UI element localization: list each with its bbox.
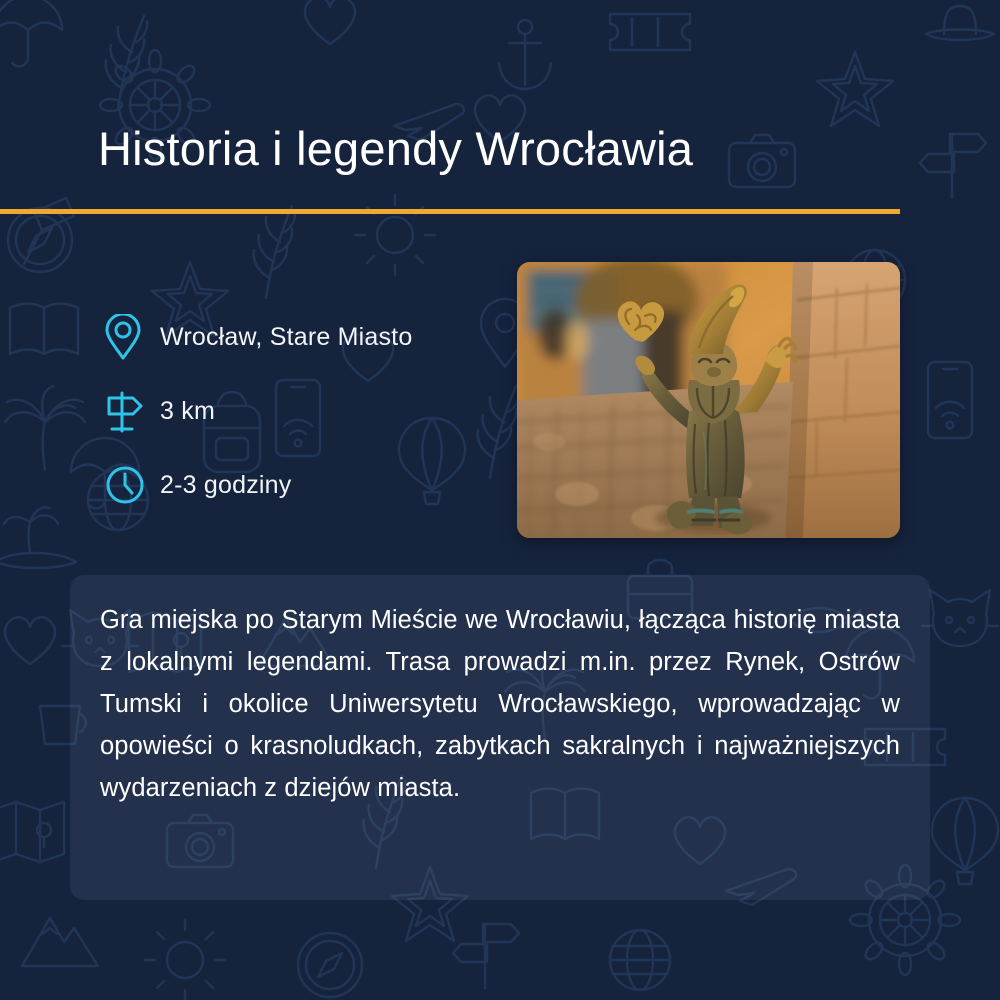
info-label-distance: 3 km — [160, 397, 215, 426]
title-block: Historia i legendy Wrocławia — [0, 118, 1000, 180]
poster-card: Historia i legendy Wrocławia Wrocław, St… — [0, 0, 1000, 1000]
clock-icon — [104, 464, 160, 506]
info-label-duration: 2-3 godziny — [160, 471, 291, 500]
location-pin-icon — [104, 314, 160, 360]
description-text: Gra miejska po Starym Mieście we Wrocław… — [100, 599, 900, 809]
title-divider — [0, 209, 900, 214]
info-label-location: Wrocław, Stare Miasto — [160, 323, 412, 352]
signpost-icon — [104, 389, 160, 433]
tour-photo — [517, 262, 900, 538]
info-row-duration: 2-3 godziny — [104, 448, 504, 522]
info-row-distance: 3 km — [104, 374, 504, 448]
info-row-location: Wrocław, Stare Miasto — [104, 300, 504, 374]
description-card: Gra miejska po Starym Mieście we Wrocław… — [70, 575, 930, 900]
page-title: Historia i legendy Wrocławia — [0, 118, 1000, 180]
trip-info-list: Wrocław, Stare Miasto 3 km 2-3 godziny — [104, 300, 504, 522]
